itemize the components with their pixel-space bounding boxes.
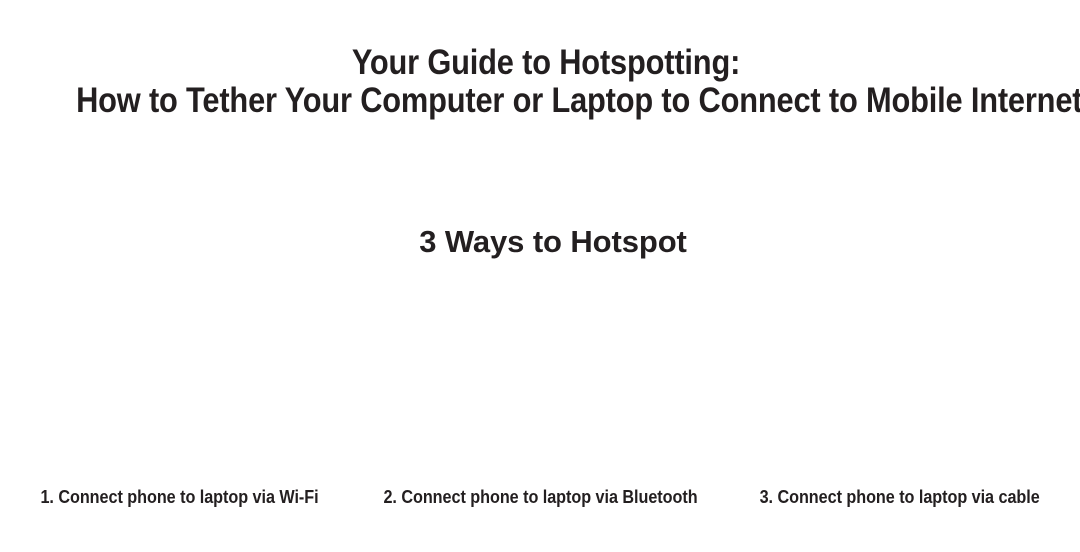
section-heading-label: 3 Ways to Hotspot bbox=[419, 222, 687, 262]
page-title: Your Guide to Hotspotting: How to Tether… bbox=[0, 44, 1080, 120]
illustration-slot-cable bbox=[720, 272, 1080, 478]
page-title-line-2: How to Tether Your Computer or Laptop to… bbox=[76, 82, 1016, 120]
illustration-slot-wifi bbox=[0, 272, 360, 478]
infographic-page: Your Guide to Hotspotting: How to Tether… bbox=[0, 0, 1080, 552]
method-caption-bluetooth-label: 2. Connect phone to laptop via Bluetooth bbox=[383, 486, 697, 508]
page-title-line-1: Your Guide to Hotspotting: bbox=[76, 44, 1016, 82]
method-caption-bluetooth: 2. Connect phone to laptop via Bluetooth bbox=[360, 486, 720, 508]
method-caption-wifi-label: 1. Connect phone to laptop via Wi-Fi bbox=[41, 486, 319, 508]
method-caption-wifi: 1. Connect phone to laptop via Wi-Fi bbox=[0, 486, 360, 508]
illustration-slot-bluetooth bbox=[360, 272, 720, 478]
section-heading: 3 Ways to Hotspot bbox=[0, 222, 1080, 262]
method-caption-cable-label: 3. Connect phone to laptop via cable bbox=[760, 486, 1040, 508]
method-caption-cable: 3. Connect phone to laptop via cable bbox=[720, 486, 1080, 508]
illustration-row bbox=[0, 272, 1080, 478]
caption-row: 1. Connect phone to laptop via Wi-Fi 2. … bbox=[0, 486, 1080, 514]
